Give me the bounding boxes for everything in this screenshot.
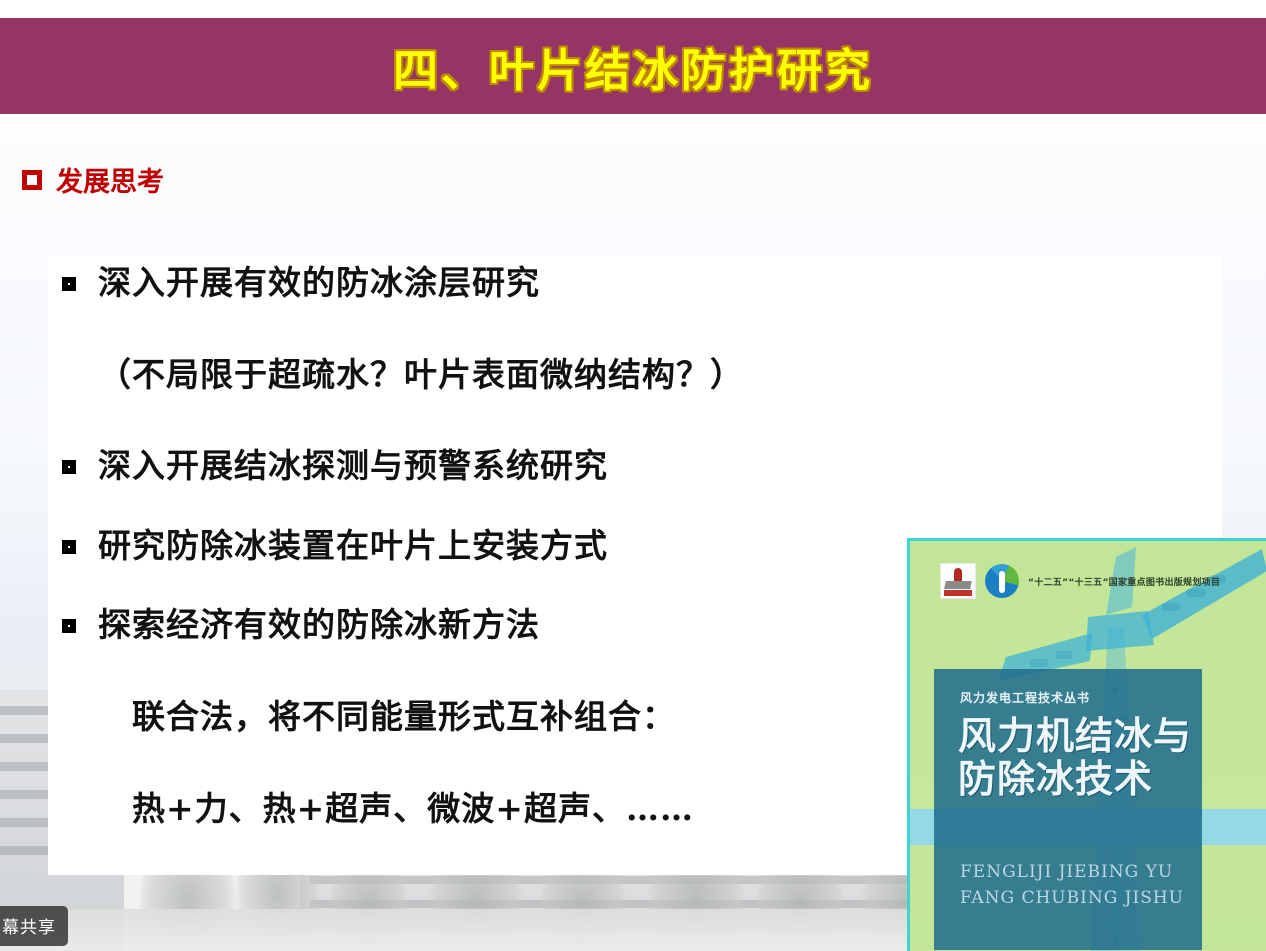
cover-pinyin-line-2: FANG CHUBING JISHU bbox=[960, 885, 1184, 911]
section-heading: 发展思考 bbox=[22, 160, 164, 199]
book-cover-image: “十二五”“十三五”国家重点图书出版规划项目 风力发电工程技术丛书 风力机结冰与… bbox=[907, 538, 1266, 951]
cover-title-line-2: 防除冰技术 bbox=[958, 758, 1192, 801]
list-item: 探索经济有效的防除冰新方法 bbox=[62, 605, 862, 645]
bullet-text: 探索经济有效的防除冰新方法 bbox=[98, 605, 540, 645]
bullet-text: 研究防除冰装置在叶片上安装方式 bbox=[98, 526, 608, 566]
section-heading-label: 发展思考 bbox=[56, 160, 164, 199]
hollow-square-icon bbox=[22, 170, 42, 190]
bullet-subtext: 联合法，将不同能量形式互补组合： bbox=[62, 697, 862, 737]
list-item: 深入开展有效的防冰涂层研究 bbox=[62, 263, 862, 303]
content-panel: 深入开展有效的防冰涂层研究 （不局限于超疏水？叶片表面微纳结构？） 深入开展结冰… bbox=[48, 255, 1222, 875]
program-emblem-icon bbox=[985, 564, 1019, 598]
publisher-emblem-icon bbox=[940, 563, 976, 599]
cover-pinyin-line-1: FENGLIJI JIEBING YU bbox=[960, 859, 1184, 885]
cover-series-label: 风力发电工程技术丛书 bbox=[960, 689, 1090, 706]
screen-share-indicator: 电的屏幕共享 bbox=[0, 906, 68, 946]
hollow-square-icon bbox=[62, 277, 76, 291]
cover-program-text: “十二五”“十三五”国家重点图书出版规划项目 bbox=[1028, 575, 1220, 588]
hollow-square-icon bbox=[62, 619, 76, 633]
cover-title-line-1: 风力机结冰与 bbox=[958, 715, 1192, 758]
slide-root: 四、叶片结冰防护研究 发展思考 深入开展有效的防冰涂层研究 （不局限于超疏水？叶… bbox=[0, 0, 1266, 951]
bullet-subtext: 热+力、热+超声、微波+超声、…… bbox=[62, 789, 862, 829]
list-item: 研究防除冰装置在叶片上安装方式 bbox=[62, 526, 862, 566]
cover-title: 风力机结冰与 防除冰技术 bbox=[958, 715, 1192, 800]
cover-title-block: 风力发电工程技术丛书 风力机结冰与 防除冰技术 FENGLIJI JIEBING… bbox=[934, 669, 1202, 950]
cover-pinyin: FENGLIJI JIEBING YU FANG CHUBING JISHU bbox=[960, 859, 1184, 912]
slide-title-banner: 四、叶片结冰防护研究 bbox=[0, 18, 1266, 114]
bullet-subtext: （不局限于超疏水？叶片表面微纳结构？） bbox=[62, 355, 862, 395]
list-item: 深入开展结冰探测与预警系统研究 bbox=[62, 446, 862, 486]
page-title: 四、叶片结冰防护研究 bbox=[393, 34, 873, 99]
hollow-square-icon bbox=[62, 540, 76, 554]
bullet-text: 深入开展有效的防冰涂层研究 bbox=[98, 263, 540, 303]
book-cover-inner: “十二五”“十三五”国家重点图书出版规划项目 风力发电工程技术丛书 风力机结冰与… bbox=[910, 541, 1266, 951]
cover-top-logos: “十二五”“十三五”国家重点图书出版规划项目 bbox=[940, 563, 1220, 599]
bullet-list: 深入开展有效的防冰涂层研究 （不局限于超疏水？叶片表面微纳结构？） 深入开展结冰… bbox=[62, 263, 862, 828]
bullet-text: 深入开展结冰探测与预警系统研究 bbox=[98, 446, 608, 486]
hollow-square-icon bbox=[62, 460, 76, 474]
